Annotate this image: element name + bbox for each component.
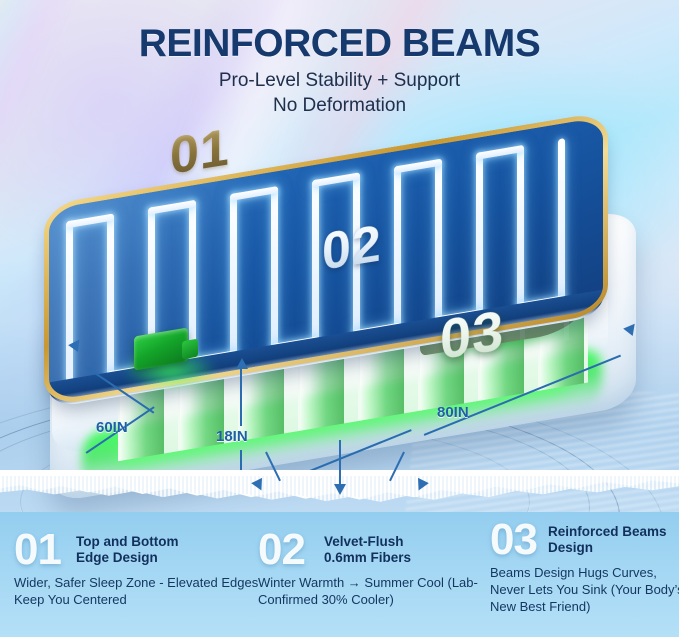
infographic-page: REINFORCED BEAMS Pro-Level Stability + S… — [0, 0, 679, 637]
feature-title: Velvet-Flush 0.6mm Fibers — [324, 534, 411, 566]
dimension-label-width: 60IN — [96, 419, 128, 436]
subtitle-line-2: No Deformation — [0, 93, 679, 118]
feature-description: Wider, Safer Sleep Zone - Elevated Edges… — [14, 574, 264, 608]
illustration-callout-01: 01 — [170, 117, 230, 186]
feature-title-line-1: Velvet-Flush — [324, 534, 411, 550]
feature-title-line-2: Edge Design — [76, 550, 178, 566]
dimension-line-height — [240, 368, 242, 426]
feature-number: 03 — [490, 518, 537, 562]
feature-number: 01 — [14, 528, 61, 572]
feature-title-line-2: Design — [548, 540, 679, 556]
feature-number: 02 — [258, 528, 305, 572]
feature-title-line-1: Reinforced Beams — [548, 524, 679, 540]
feature-title-line-1: Top and Bottom — [76, 534, 178, 550]
dimension-label-length: 80IN — [437, 404, 469, 421]
feature-title: Top and Bottom Edge Design — [76, 534, 178, 566]
feature-description: Beams Design Hugs Curves, Never Lets You… — [490, 564, 679, 615]
page-title: REINFORCED BEAMS — [0, 22, 679, 66]
page-subtitle: Pro-Level Stability + Support No Deforma… — [0, 68, 679, 118]
pump-valve-nozzle — [182, 339, 198, 360]
subtitle-line-1: Pro-Level Stability + Support — [0, 68, 679, 93]
illustration-callout-03: 03 — [440, 297, 504, 372]
feature-title: Reinforced Beams Design — [548, 524, 679, 556]
feature-description: Winter Warmth → Summer Cool (Lab-Confirm… — [258, 574, 508, 608]
illustration-callout-02: 02 — [322, 213, 382, 282]
hero-section: REINFORCED BEAMS Pro-Level Stability + S… — [0, 0, 679, 512]
dimension-label-height: 18IN — [216, 428, 248, 445]
feature-title-line-2: 0.6mm Fibers — [324, 550, 411, 566]
features-section: 01 Top and Bottom Edge Design Wider, Saf… — [0, 512, 679, 637]
mattress-illustration: 01 02 03 — [22, 140, 662, 500]
